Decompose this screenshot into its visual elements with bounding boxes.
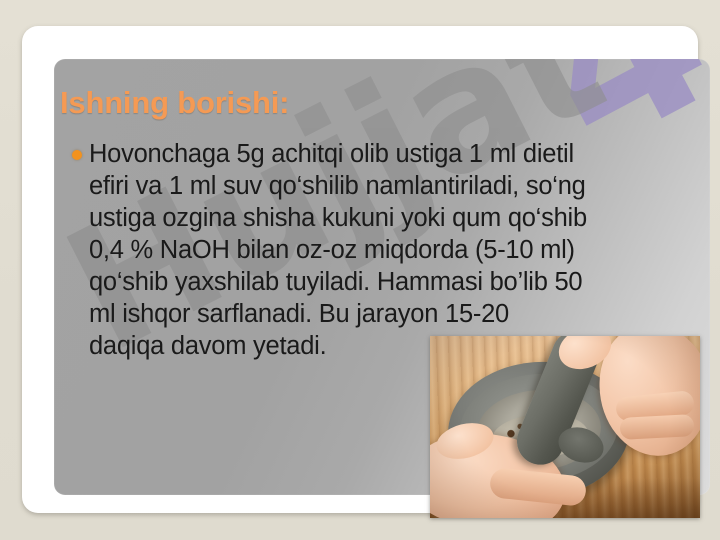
page-title: Ishning borishi: bbox=[60, 86, 560, 120]
body-line: qo‘shib yaxshilab tuyiladi. Hammasi bo’l… bbox=[89, 266, 702, 298]
body-line: efiri va 1 ml suv qo‘shilib namlantirila… bbox=[89, 170, 702, 202]
body-line: 0,4 % NaOH bilan oz-oz miqdorda (5-10 ml… bbox=[89, 234, 702, 266]
body-line: ustiga ozgina shisha kukuni yoki qum qo‘… bbox=[89, 202, 702, 234]
slide-canvas: 4 Hujjat Ishning borishi: Hovonchaga 5g … bbox=[0, 0, 720, 540]
photo-vignette bbox=[430, 336, 700, 518]
bullet-list-item: Hovonchaga 5g achitqi olib ustiga 1 ml d… bbox=[72, 138, 702, 362]
body-paragraph: Hovonchaga 5g achitqi olib ustiga 1 ml d… bbox=[89, 138, 702, 362]
body-line: Hovonchaga 5g achitqi olib ustiga 1 ml d… bbox=[89, 138, 702, 170]
orange-round-bullet-icon bbox=[72, 150, 82, 160]
mortar-and-pestle-photo bbox=[430, 336, 700, 518]
body-line: ml ishqor sarflanadi. Bu jarayon 15-20 bbox=[89, 298, 702, 330]
